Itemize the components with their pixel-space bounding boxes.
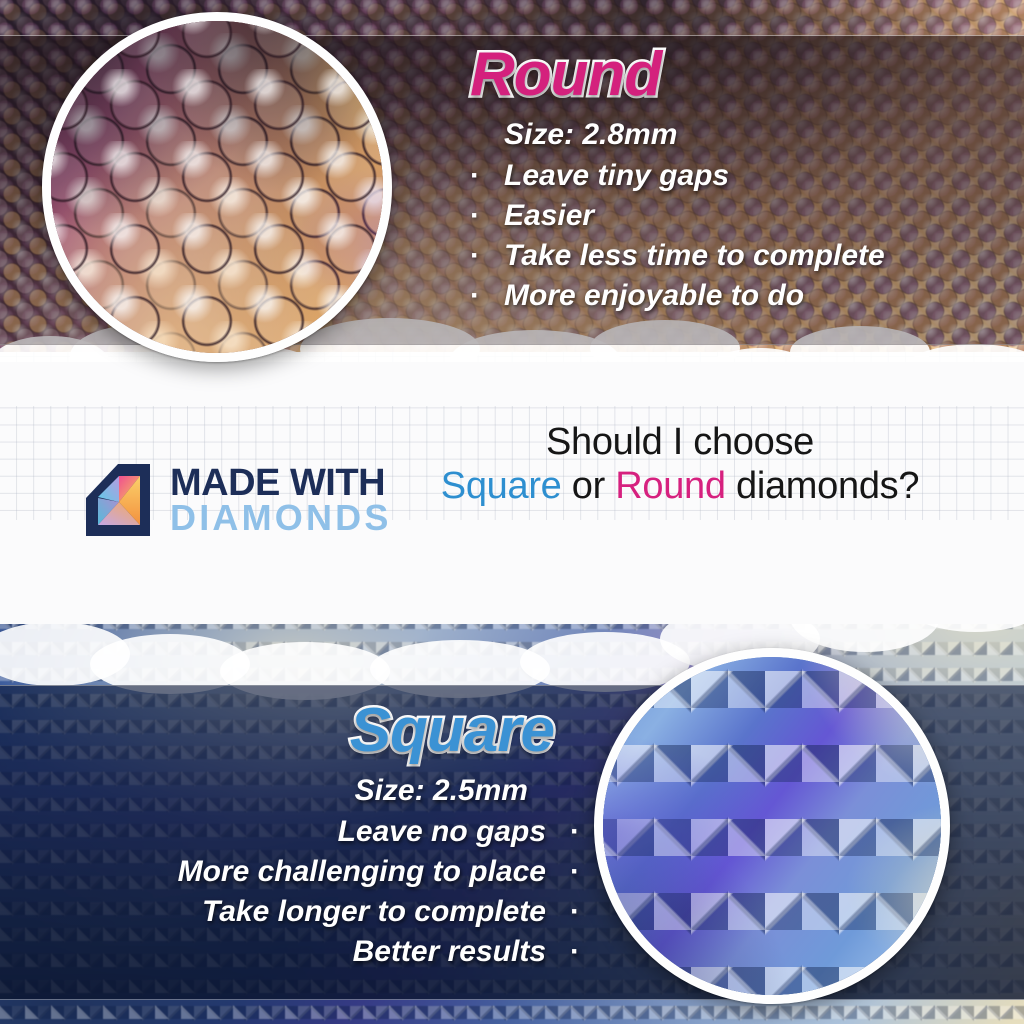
page-title: Should I choose Square or Round diamonds… bbox=[420, 420, 940, 508]
headline-keyword-round: Round bbox=[615, 465, 725, 507]
list-item: Take less time to complete bbox=[470, 236, 1010, 276]
list-item: Leave no gaps bbox=[20, 812, 580, 852]
square-size-label: Size: 2.5mm bbox=[20, 774, 580, 808]
headline-line-1: Should I choose bbox=[546, 421, 814, 463]
headline-line-2: Square or Round diamonds? bbox=[420, 464, 940, 508]
list-item: More challenging to place bbox=[20, 852, 580, 892]
square-title: Square bbox=[20, 700, 554, 762]
square-closeup-inset bbox=[594, 648, 950, 1004]
brand-line-diamonds: DIAMONDS bbox=[170, 501, 392, 534]
brand-wordmark: MADE WITH DIAMONDS bbox=[170, 466, 392, 534]
headline-conjunction: or bbox=[562, 465, 616, 507]
list-item: More enjoyable to do bbox=[470, 276, 1010, 316]
list-item: Better results bbox=[20, 932, 580, 972]
headline-suffix: diamonds? bbox=[726, 465, 919, 507]
round-size-label: Size: 2.8mm bbox=[470, 118, 1010, 152]
diamond-logo-icon bbox=[82, 462, 154, 538]
round-benefit-list: Leave tiny gaps Easier Take less time to… bbox=[470, 156, 1010, 316]
round-info-panel: Round Size: 2.8mm Leave tiny gaps Easier… bbox=[470, 44, 1010, 316]
brand-logo[interactable]: MADE WITH DIAMONDS bbox=[82, 462, 392, 538]
list-item: Leave tiny gaps bbox=[470, 156, 1010, 196]
round-closeup-inset bbox=[42, 12, 392, 362]
infographic-canvas: Round Size: 2.8mm Leave tiny gaps Easier… bbox=[0, 0, 1024, 1024]
brand-line-made-with: MADE WITH bbox=[170, 466, 392, 501]
square-benefit-list: Leave no gaps More challenging to place … bbox=[20, 812, 580, 972]
round-title: Round bbox=[470, 44, 1010, 106]
list-item: Easier bbox=[470, 196, 1010, 236]
square-info-panel: Square Size: 2.5mm Leave no gaps More ch… bbox=[20, 700, 580, 972]
list-item: Take longer to complete bbox=[20, 892, 580, 932]
headline-keyword-square: Square bbox=[441, 465, 562, 507]
